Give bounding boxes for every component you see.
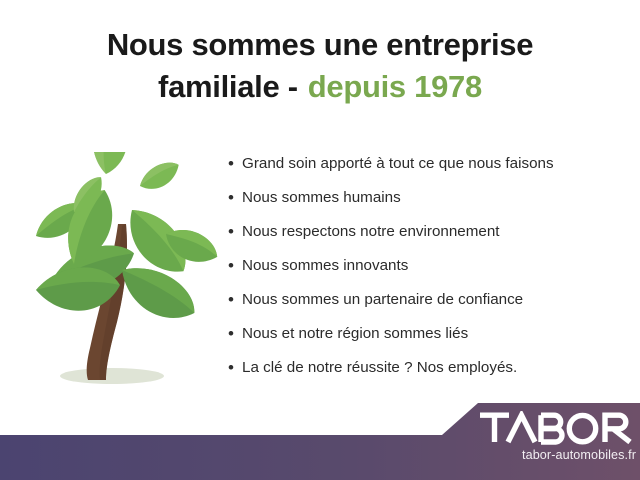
headline-line-2-plain: familiale - [158,69,298,104]
bullet-dot-icon: • [228,322,242,346]
tabor-wordmark-letters [480,415,630,442]
brand-footer-bar: tabor-automobiles.fr [0,400,640,480]
list-item: • Nous sommes innovants [228,254,628,288]
list-item-label: Nous respectons notre environnement [242,220,628,244]
slide-canvas: Nous sommes une entreprise familiale -de… [0,0,640,480]
list-item-label: Nous sommes un partenaire de confiance [242,288,628,312]
values-bullet-list: • Grand soin apporté à tout ce que nous … [228,152,628,390]
list-item-label: Grand soin apporté à tout ce que nous fa… [242,152,628,176]
list-item-label: Nous et notre région sommes liés [242,322,628,346]
list-item: • Nous sommes un partenaire de confiance [228,288,628,322]
list-item-label: Nous sommes innovants [242,254,628,278]
bullet-dot-icon: • [228,186,242,210]
list-item-label: La clé de notre réussite ? Nos employés. [242,356,628,380]
list-item: • Nous et notre région sommes liés [228,322,628,356]
bullet-dot-icon: • [228,152,242,176]
tabor-logo[interactable]: tabor-automobiles.fr [478,411,640,473]
headline-accent-since-1978: depuis 1978 [308,69,482,104]
tree-illustration [14,152,219,397]
leaf-center-top [90,152,131,176]
list-item: • La clé de notre réussite ? Nos employé… [228,356,628,390]
page-title: Nous sommes une entreprise familiale -de… [0,24,640,108]
bullet-dot-icon: • [228,288,242,312]
bullet-dot-icon: • [228,356,242,380]
headline-line-2: familiale -depuis 1978 [0,66,640,108]
headline-line-1: Nous sommes une entreprise [0,24,640,66]
list-item-label: Nous sommes humains [242,186,628,210]
logo-tagline: tabor-automobiles.fr [480,447,638,463]
list-item: • Nous sommes humains [228,186,628,220]
leaf-top-right [135,157,184,195]
tree-shadow [60,368,164,384]
bullet-dot-icon: • [228,220,242,244]
bullet-dot-icon: • [228,254,242,278]
list-item: • Grand soin apporté à tout ce que nous … [228,152,628,186]
list-item: • Nous respectons notre environnement [228,220,628,254]
